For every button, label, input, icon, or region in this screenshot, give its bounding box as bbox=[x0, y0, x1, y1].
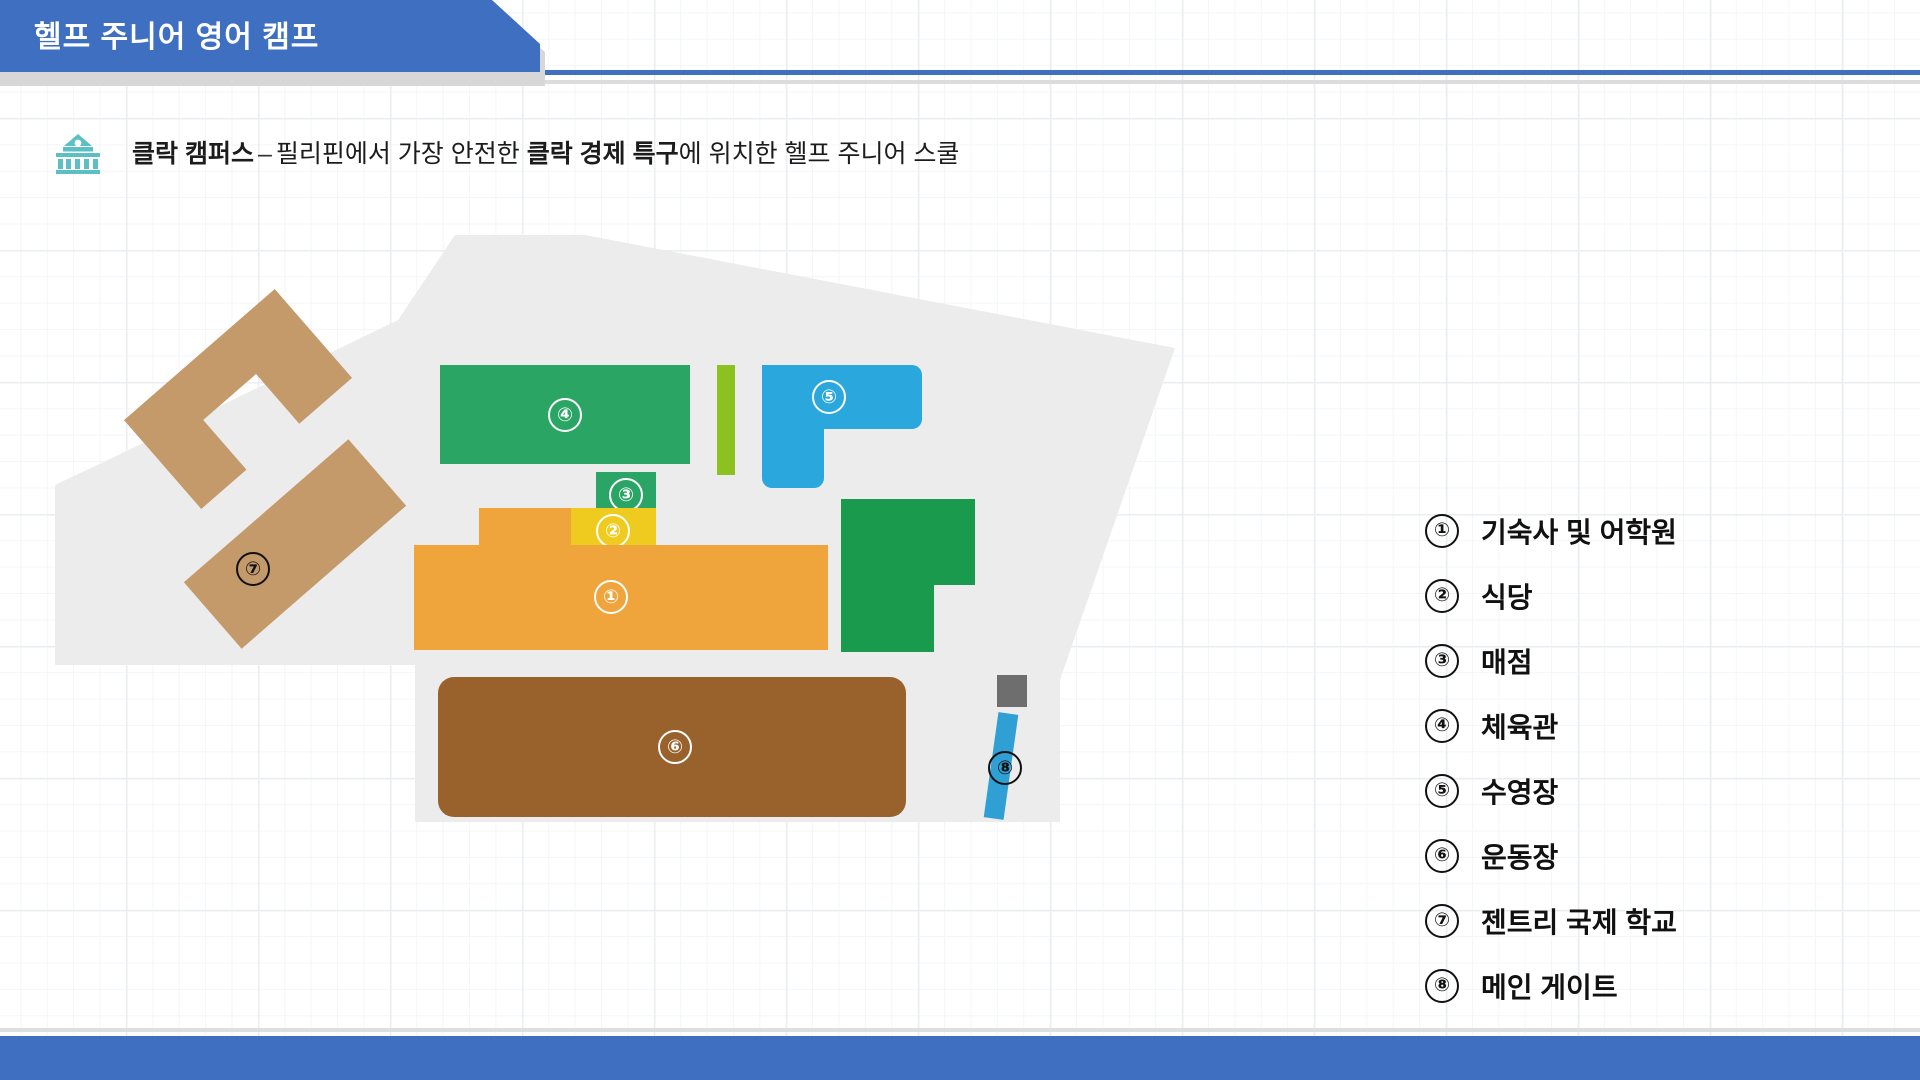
legend-item-4[interactable]: ④ 체육관 bbox=[1425, 693, 1865, 758]
legend-item-1[interactable]: ① 기숙사 및 어학원 bbox=[1425, 498, 1865, 563]
map-marker-8[interactable]: ⑧ bbox=[988, 751, 1022, 785]
subtitle-bold-lead: 클락 캠퍼스 bbox=[132, 140, 254, 168]
legend-label-7: 젠트리 국제 학교 bbox=[1481, 901, 1677, 941]
header-rule-shadow bbox=[470, 80, 1920, 84]
legend-label-6: 운동장 bbox=[1481, 836, 1558, 876]
subtitle-row: 클락 캠퍼스–필리핀에서 가장 안전한 클락 경제 특구에 위치한 헬프 주니어… bbox=[52, 132, 959, 176]
legend-number-5: ⑤ bbox=[1425, 774, 1459, 808]
header: 헬프 주니어 영어 캠프 bbox=[0, 0, 1920, 92]
page-title: 헬프 주니어 영어 캠프 bbox=[34, 12, 319, 56]
map-block-dormitory[interactable]: ① bbox=[414, 545, 828, 650]
map-marker-5[interactable]: ⑤ bbox=[812, 380, 846, 414]
map-legend: ① 기숙사 및 어학원 ② 식당 ③ 매점 ④ 체육관 ⑤ 수영장 ⑥ 운동장 … bbox=[1425, 498, 1865, 1018]
legend-item-5[interactable]: ⑤ 수영장 bbox=[1425, 758, 1865, 823]
legend-item-2[interactable]: ② 식당 bbox=[1425, 563, 1865, 628]
gentry-school-group[interactable]: ⑦ bbox=[108, 330, 408, 710]
legend-number-8: ⑧ bbox=[1425, 969, 1459, 1003]
legend-number-6: ⑥ bbox=[1425, 839, 1459, 873]
campus-map: ⑦ ④ ⑤ ③ ② ① ⑥ ⑧ bbox=[0, 210, 1400, 1010]
legend-label-8: 메인 게이트 bbox=[1481, 966, 1618, 1006]
map-marker-1[interactable]: ① bbox=[594, 580, 628, 614]
map-block-lime-strip[interactable] bbox=[717, 365, 735, 475]
map-block-gate-booth[interactable] bbox=[997, 675, 1027, 707]
map-block-pool-lower[interactable] bbox=[762, 420, 824, 488]
legend-label-5: 수영장 bbox=[1481, 771, 1558, 811]
legend-number-3: ③ bbox=[1425, 644, 1459, 678]
subtitle-text-tail: 에 위치한 헬프 주니어 스쿨 bbox=[679, 140, 960, 168]
map-block-gymnasium[interactable]: ④ bbox=[440, 365, 690, 464]
map-marker-2[interactable]: ② bbox=[596, 514, 630, 548]
title-ribbon: 헬프 주니어 영어 캠프 bbox=[0, 0, 540, 80]
subtitle-bold-mid: 클락 경제 특구 bbox=[527, 140, 679, 168]
legend-label-3: 매점 bbox=[1481, 641, 1533, 681]
map-marker-6[interactable]: ⑥ bbox=[658, 730, 692, 764]
legend-item-3[interactable]: ③ 매점 bbox=[1425, 628, 1865, 693]
map-marker-3[interactable]: ③ bbox=[609, 478, 643, 512]
subtitle-text: 클락 캠퍼스–필리핀에서 가장 안전한 클락 경제 특구에 위치한 헬프 주니어… bbox=[132, 139, 959, 169]
legend-number-2: ② bbox=[1425, 579, 1459, 613]
legend-item-8[interactable]: ⑧ 메인 게이트 bbox=[1425, 953, 1865, 1018]
legend-number-4: ④ bbox=[1425, 709, 1459, 743]
legend-label-4: 체육관 bbox=[1481, 706, 1558, 746]
legend-item-7[interactable]: ⑦ 젠트리 국제 학교 bbox=[1425, 888, 1865, 953]
footer-bar bbox=[0, 1036, 1920, 1080]
map-marker-7[interactable]: ⑦ bbox=[236, 552, 270, 586]
school-building-icon bbox=[52, 132, 104, 176]
legend-label-1: 기숙사 및 어학원 bbox=[1481, 511, 1677, 551]
subtitle-text-mid: 필리핀에서 가장 안전한 bbox=[276, 140, 520, 168]
legend-number-7: ⑦ bbox=[1425, 904, 1459, 938]
map-block-green-upper[interactable] bbox=[841, 499, 975, 585]
header-accent-rule bbox=[520, 70, 1920, 75]
subtitle-dash: – bbox=[254, 140, 276, 168]
map-block-sports-field[interactable]: ⑥ bbox=[438, 677, 906, 817]
footer-shadow bbox=[0, 1028, 1920, 1032]
legend-item-6[interactable]: ⑥ 운동장 bbox=[1425, 823, 1865, 888]
legend-number-1: ① bbox=[1425, 514, 1459, 548]
legend-label-2: 식당 bbox=[1481, 576, 1533, 616]
map-block-green-lower[interactable] bbox=[841, 582, 934, 652]
map-marker-4[interactable]: ④ bbox=[548, 398, 582, 432]
